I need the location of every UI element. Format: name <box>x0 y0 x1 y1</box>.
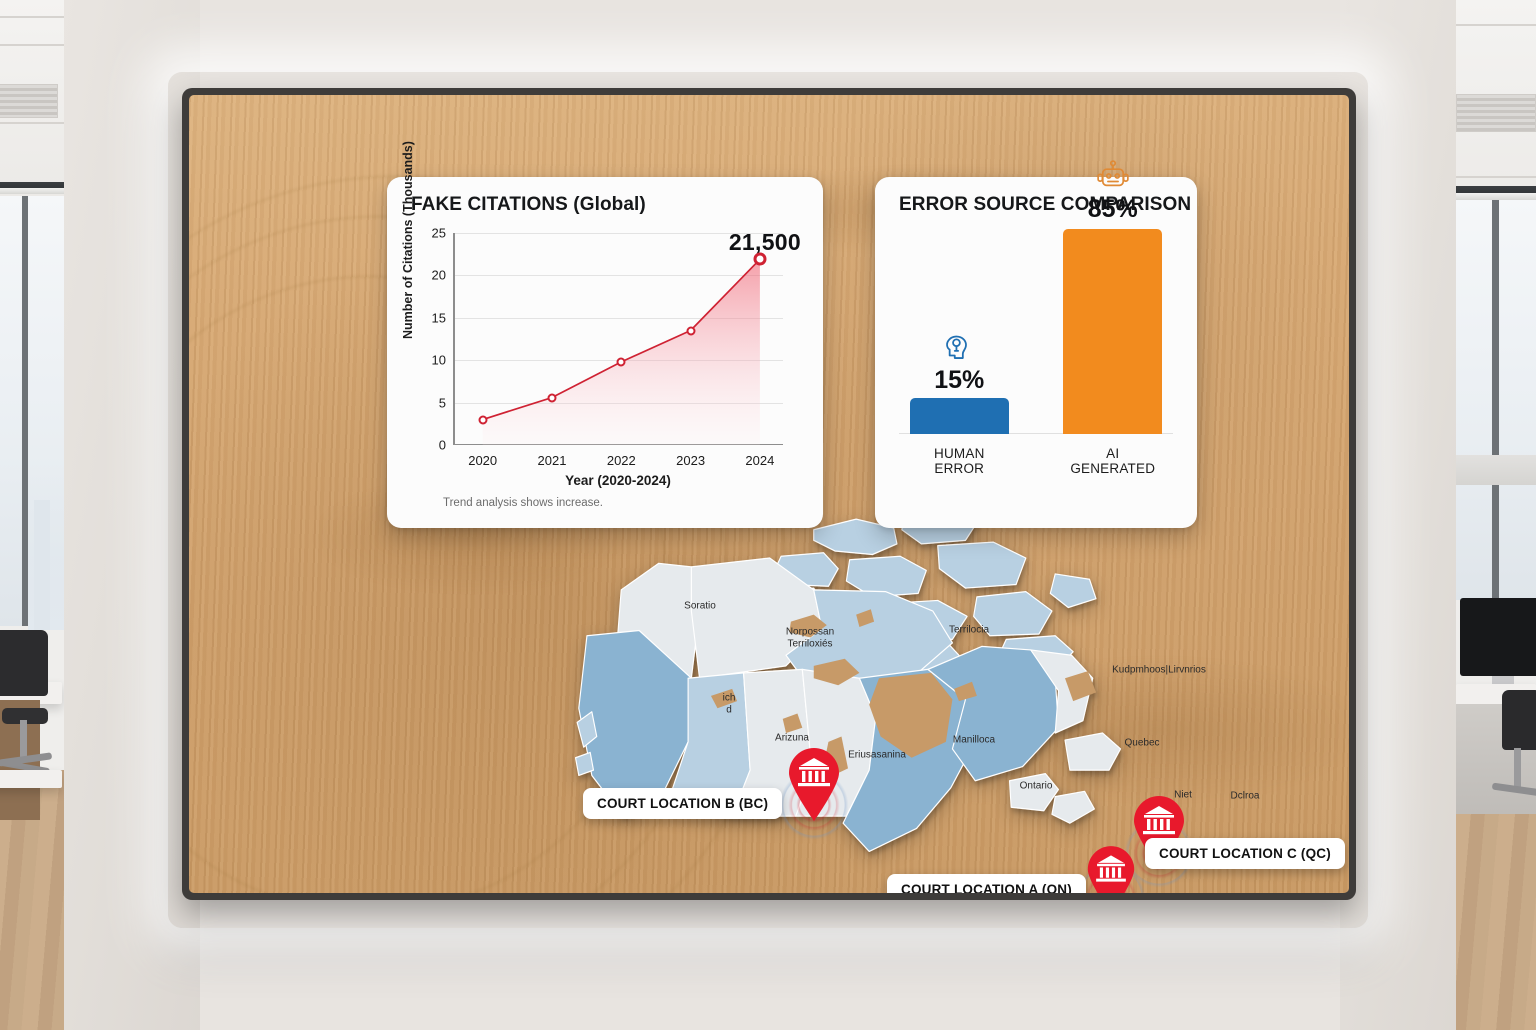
beam-light <box>0 188 64 194</box>
chair-post <box>20 720 27 760</box>
fake-citations-card[interactable]: FAKE CITATIONS (Global) 21,500 Number of… <box>387 177 823 528</box>
x-tick-2023: 2023 <box>676 453 705 468</box>
data-point-2024[interactable] <box>753 253 766 266</box>
board-wood-surface: Soratio NorpossanTerriloxiés Terrilocia … <box>189 95 1349 893</box>
robot-icon <box>1063 159 1162 193</box>
ceiling-vent <box>1456 94 1536 132</box>
presentation-board: Soratio NorpossanTerriloxiés Terrilocia … <box>182 88 1356 900</box>
pin-marker-icon <box>1085 846 1137 893</box>
data-point-2020[interactable] <box>478 415 487 424</box>
data-point-2022[interactable] <box>617 357 626 366</box>
line-chart-y-axis-label: Number of Citations (Thousands) <box>401 141 415 339</box>
x-tick-2024: 2024 <box>745 453 774 468</box>
bar-column-ai-generated[interactable]: 85% AI GENERATED <box>1063 193 1162 434</box>
office-left-room <box>0 0 64 1030</box>
office-right-view <box>1340 0 1536 1030</box>
monitor <box>1460 598 1536 676</box>
monitor-stand <box>1492 676 1514 684</box>
x-tick-2020: 2020 <box>468 453 497 468</box>
x-tick-2021: 2021 <box>538 453 567 468</box>
ceiling-line <box>0 44 64 46</box>
pin-label-c: COURT LOCATION C (QC) <box>1145 838 1345 869</box>
bar-column-human-error[interactable]: 15% HUMAN ERROR <box>910 193 1009 434</box>
ceiling-line <box>1456 176 1536 178</box>
map-pin-court-location-b[interactable]: COURT LOCATION B (BC) <box>786 748 842 827</box>
data-point-2023[interactable] <box>686 326 695 335</box>
bar-ai-generated[interactable] <box>1063 229 1162 434</box>
floor <box>1456 800 1536 1030</box>
ceiling-line <box>1456 24 1536 26</box>
y-tick-20: 20 <box>432 268 446 283</box>
bar-category-human-error: HUMAN ERROR <box>910 446 1009 476</box>
bar-category-ai-generated: AI GENERATED <box>1063 446 1162 476</box>
bar-value-human-error: 15% <box>910 366 1009 395</box>
partition <box>1456 455 1536 485</box>
map-pin-court-location-c[interactable]: COURT LOCATION C (QC) <box>1131 796 1187 875</box>
line-chart-x-axis-label: Year (2020-2024) <box>453 473 783 488</box>
chair-back <box>1502 690 1536 750</box>
map-svg <box>569 505 1189 885</box>
desk <box>0 770 62 788</box>
error-source-card[interactable]: ERROR SOURCE COMPARISON 15% <box>875 177 1197 528</box>
x-tick-2022: 2022 <box>607 453 636 468</box>
window-mullion <box>1492 200 1499 600</box>
bar-value-ai-generated: 85% <box>1063 195 1162 224</box>
chair-back <box>0 630 48 696</box>
y-tick-25: 25 <box>432 226 446 241</box>
line-chart-series <box>453 233 783 445</box>
human-head-idea-icon <box>910 330 1009 364</box>
pin-label-a: COURT LOCATION A (ON) <box>887 874 1086 893</box>
fake-citations-title: FAKE CITATIONS (Global) <box>411 194 646 216</box>
y-tick-5: 5 <box>439 395 446 410</box>
pin-marker-icon <box>786 748 842 822</box>
ceiling-line <box>0 16 64 18</box>
pin-label-b: COURT LOCATION B (BC) <box>583 788 782 819</box>
y-tick-10: 10 <box>432 353 446 368</box>
bar-chart-plot: 15% HUMAN ERROR 85% <box>899 235 1173 476</box>
beam-light <box>1456 193 1536 200</box>
map-pin-court-location-a[interactable]: COURT LOCATION A (ON) <box>1085 846 1137 893</box>
bar-human-error[interactable] <box>910 398 1009 434</box>
fake-citations-footnote: Trend analysis shows increase. <box>443 497 603 509</box>
y-tick-0: 0 <box>439 438 446 453</box>
data-point-2021[interactable] <box>548 393 557 402</box>
canada-map[interactable]: Soratio NorpossanTerriloxiés Terrilocia … <box>569 505 1189 885</box>
office-right-room <box>1456 0 1536 1030</box>
y-tick-15: 15 <box>432 310 446 325</box>
ceiling-vent <box>0 84 58 118</box>
ceiling-line <box>0 122 64 124</box>
building <box>34 500 50 630</box>
line-chart-plot: 25 20 15 10 5 0 2020 2021 2022 2023 2024 <box>453 233 783 445</box>
